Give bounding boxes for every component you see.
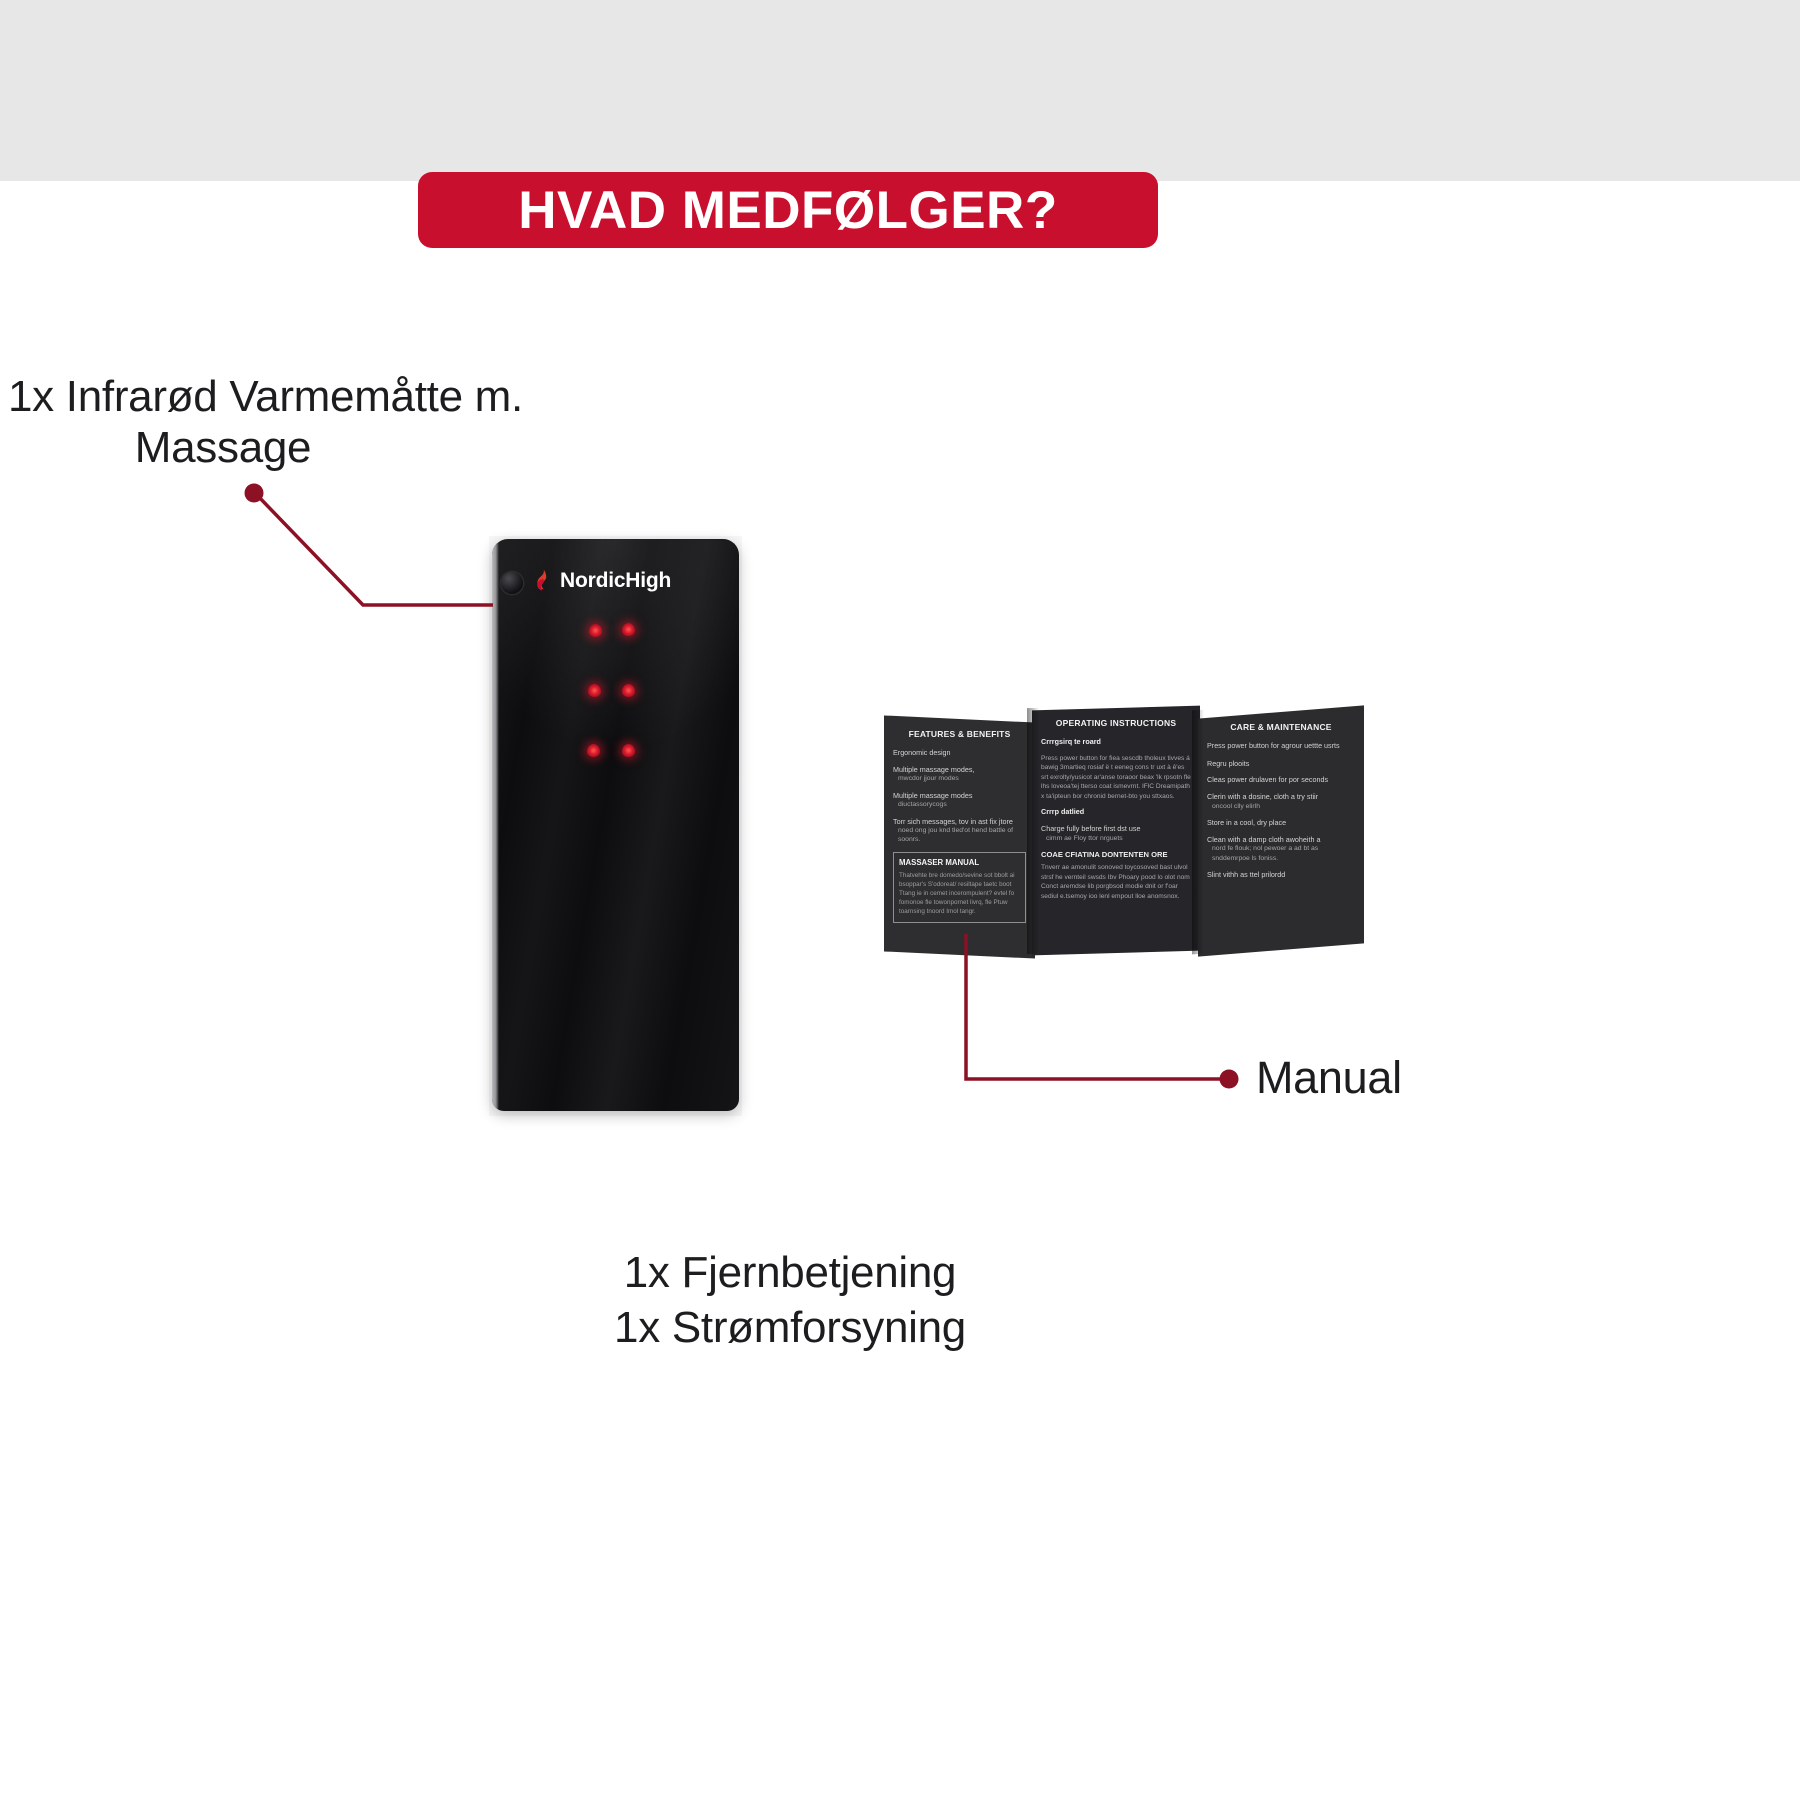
callout-label-remote: 1x Fjernbetjening (300, 1245, 1280, 1300)
callout-label-mat: 1x Infrarød Varmemåtte m. Massage (8, 372, 648, 473)
callout-label-manual: Manual (1256, 1052, 1402, 1104)
leader-dot-manual (1220, 1070, 1239, 1089)
callout-leader-lines (0, 0, 1800, 1800)
leader-dot-mat (245, 484, 264, 503)
page-title-banner: HVAD MEDFØLGER? (418, 172, 1158, 248)
callout-label-accessories: 1x Fjernbetjening 1x Strømforsyning (300, 1245, 1280, 1355)
callout-label-power: 1x Strømforsyning (300, 1300, 1280, 1355)
callout-label-mat-line1: 1x Infrarød Varmemåtte m. (8, 372, 648, 423)
leader-line-manual (966, 934, 1225, 1079)
leader-line-mat (256, 494, 493, 605)
page-title: HVAD MEDFØLGER? (518, 184, 1057, 237)
callout-label-mat-line2: Massage (8, 423, 648, 474)
